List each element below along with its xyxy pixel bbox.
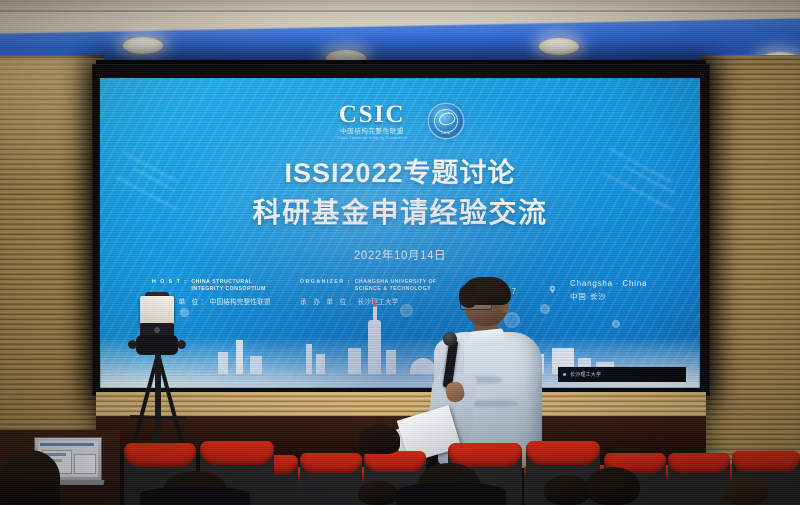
auditorium-seat bbox=[668, 453, 730, 505]
presenter bbox=[430, 280, 550, 465]
auditorium-seat bbox=[300, 453, 362, 505]
audience-shoulders bbox=[396, 483, 506, 505]
tripod-knob-right bbox=[177, 340, 186, 349]
presenter-hair-side bbox=[459, 284, 477, 308]
audience-shoulders bbox=[140, 487, 250, 505]
ceiling-edge-trim bbox=[0, 0, 800, 9]
ceiling-downlight bbox=[539, 38, 579, 55]
audience-head bbox=[586, 467, 640, 505]
ceiling-seam bbox=[0, 10, 800, 12]
audience-head bbox=[358, 481, 398, 505]
audience-head bbox=[0, 450, 60, 505]
white-recording-device bbox=[140, 296, 174, 324]
tripod-head bbox=[136, 335, 178, 355]
tripod-knob-left bbox=[128, 340, 137, 349]
audience-head bbox=[358, 424, 400, 454]
audience-head bbox=[544, 475, 590, 505]
wood-slat-wall-right bbox=[700, 55, 800, 475]
ceiling-downlight bbox=[123, 37, 163, 54]
wall-light-spill bbox=[0, 58, 104, 188]
conference-photo-scene: CSIC 中国结构完整性联盟 China Structural Integrit… bbox=[0, 0, 800, 505]
audience-head bbox=[722, 477, 768, 505]
audience-seating bbox=[0, 440, 800, 505]
